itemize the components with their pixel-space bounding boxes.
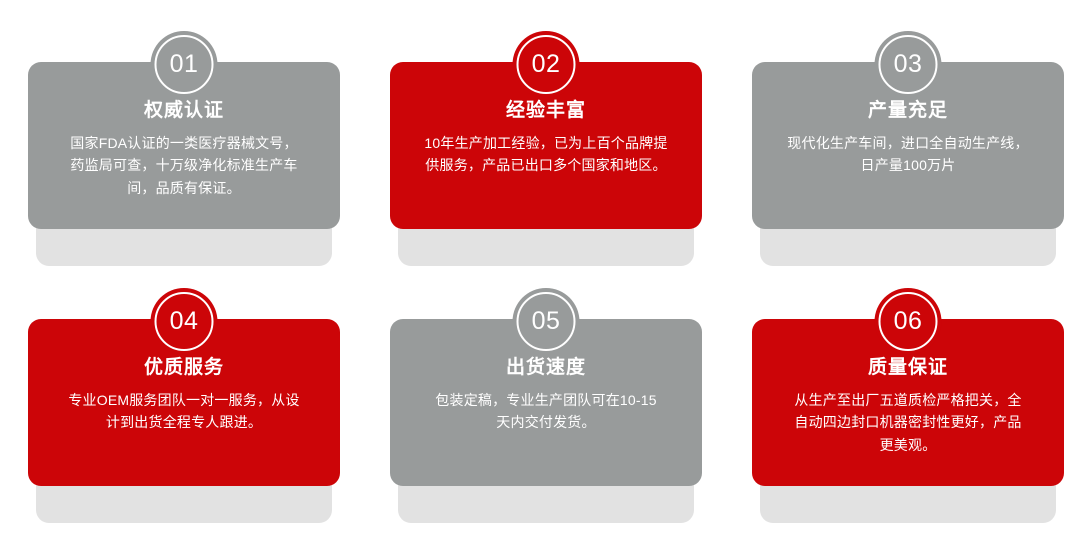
card-number-badge: 06 — [875, 288, 942, 355]
advantages-board: 权威认证 国家FDA认证的一类医疗器械文号， 药监局可查，十万级净化标准生产车 … — [0, 0, 1092, 537]
card-title: 权威认证 — [42, 100, 326, 123]
card-description: 国家FDA认证的一类医疗器械文号， 药监局可查，十万级净化标准生产车 间，品质有… — [42, 132, 326, 200]
card-number: 04 — [170, 309, 199, 334]
advantage-card-04[interactable]: 优质服务 专业OEM服务团队一对一服务，从设 计到出货全程专人跟进。 04 — [28, 288, 340, 523]
card-number: 06 — [894, 309, 923, 334]
advantage-card-05[interactable]: 出货速度 包装定稿，专业生产团队可在10-15 天内交付发货。 05 — [390, 288, 702, 523]
card-title: 经验丰富 — [404, 100, 688, 123]
card-number-badge: 04 — [151, 288, 218, 355]
card-description: 专业OEM服务团队一对一服务，从设 计到出货全程专人跟进。 — [42, 389, 326, 434]
card-description: 包装定稿，专业生产团队可在10-15 天内交付发货。 — [404, 389, 688, 434]
card-description: 10年生产加工经验，已为上百个品牌提 供服务，产品已出口多个国家和地区。 — [404, 132, 688, 177]
card-number-badge: 01 — [151, 31, 218, 98]
card-title: 出货速度 — [404, 357, 688, 380]
card-title: 优质服务 — [42, 357, 326, 380]
card-title: 产量充足 — [766, 100, 1050, 123]
card-number-badge: 02 — [513, 31, 580, 98]
advantage-card-03[interactable]: 产量充足 现代化生产车间，进口全自动生产线， 日产量100万片 03 — [752, 31, 1064, 266]
advantages-grid: 权威认证 国家FDA认证的一类医疗器械文号， 药监局可查，十万级净化标准生产车 … — [0, 0, 1092, 523]
card-number: 05 — [532, 309, 561, 334]
card-description: 从生产至出厂五道质检严格把关，全 自动四边封口机器密封性更好，产品 更美观。 — [766, 389, 1050, 457]
card-number-badge: 03 — [875, 31, 942, 98]
advantage-card-02[interactable]: 经验丰富 10年生产加工经验，已为上百个品牌提 供服务，产品已出口多个国家和地区… — [390, 31, 702, 266]
card-number: 02 — [532, 52, 561, 77]
card-title: 质量保证 — [766, 357, 1050, 380]
card-number-badge: 05 — [513, 288, 580, 355]
card-number: 03 — [894, 52, 923, 77]
card-number: 01 — [170, 52, 199, 77]
advantage-card-06[interactable]: 质量保证 从生产至出厂五道质检严格把关，全 自动四边封口机器密封性更好，产品 更… — [752, 288, 1064, 523]
card-description: 现代化生产车间，进口全自动生产线， 日产量100万片 — [766, 132, 1050, 177]
advantage-card-01[interactable]: 权威认证 国家FDA认证的一类医疗器械文号， 药监局可查，十万级净化标准生产车 … — [28, 31, 340, 266]
